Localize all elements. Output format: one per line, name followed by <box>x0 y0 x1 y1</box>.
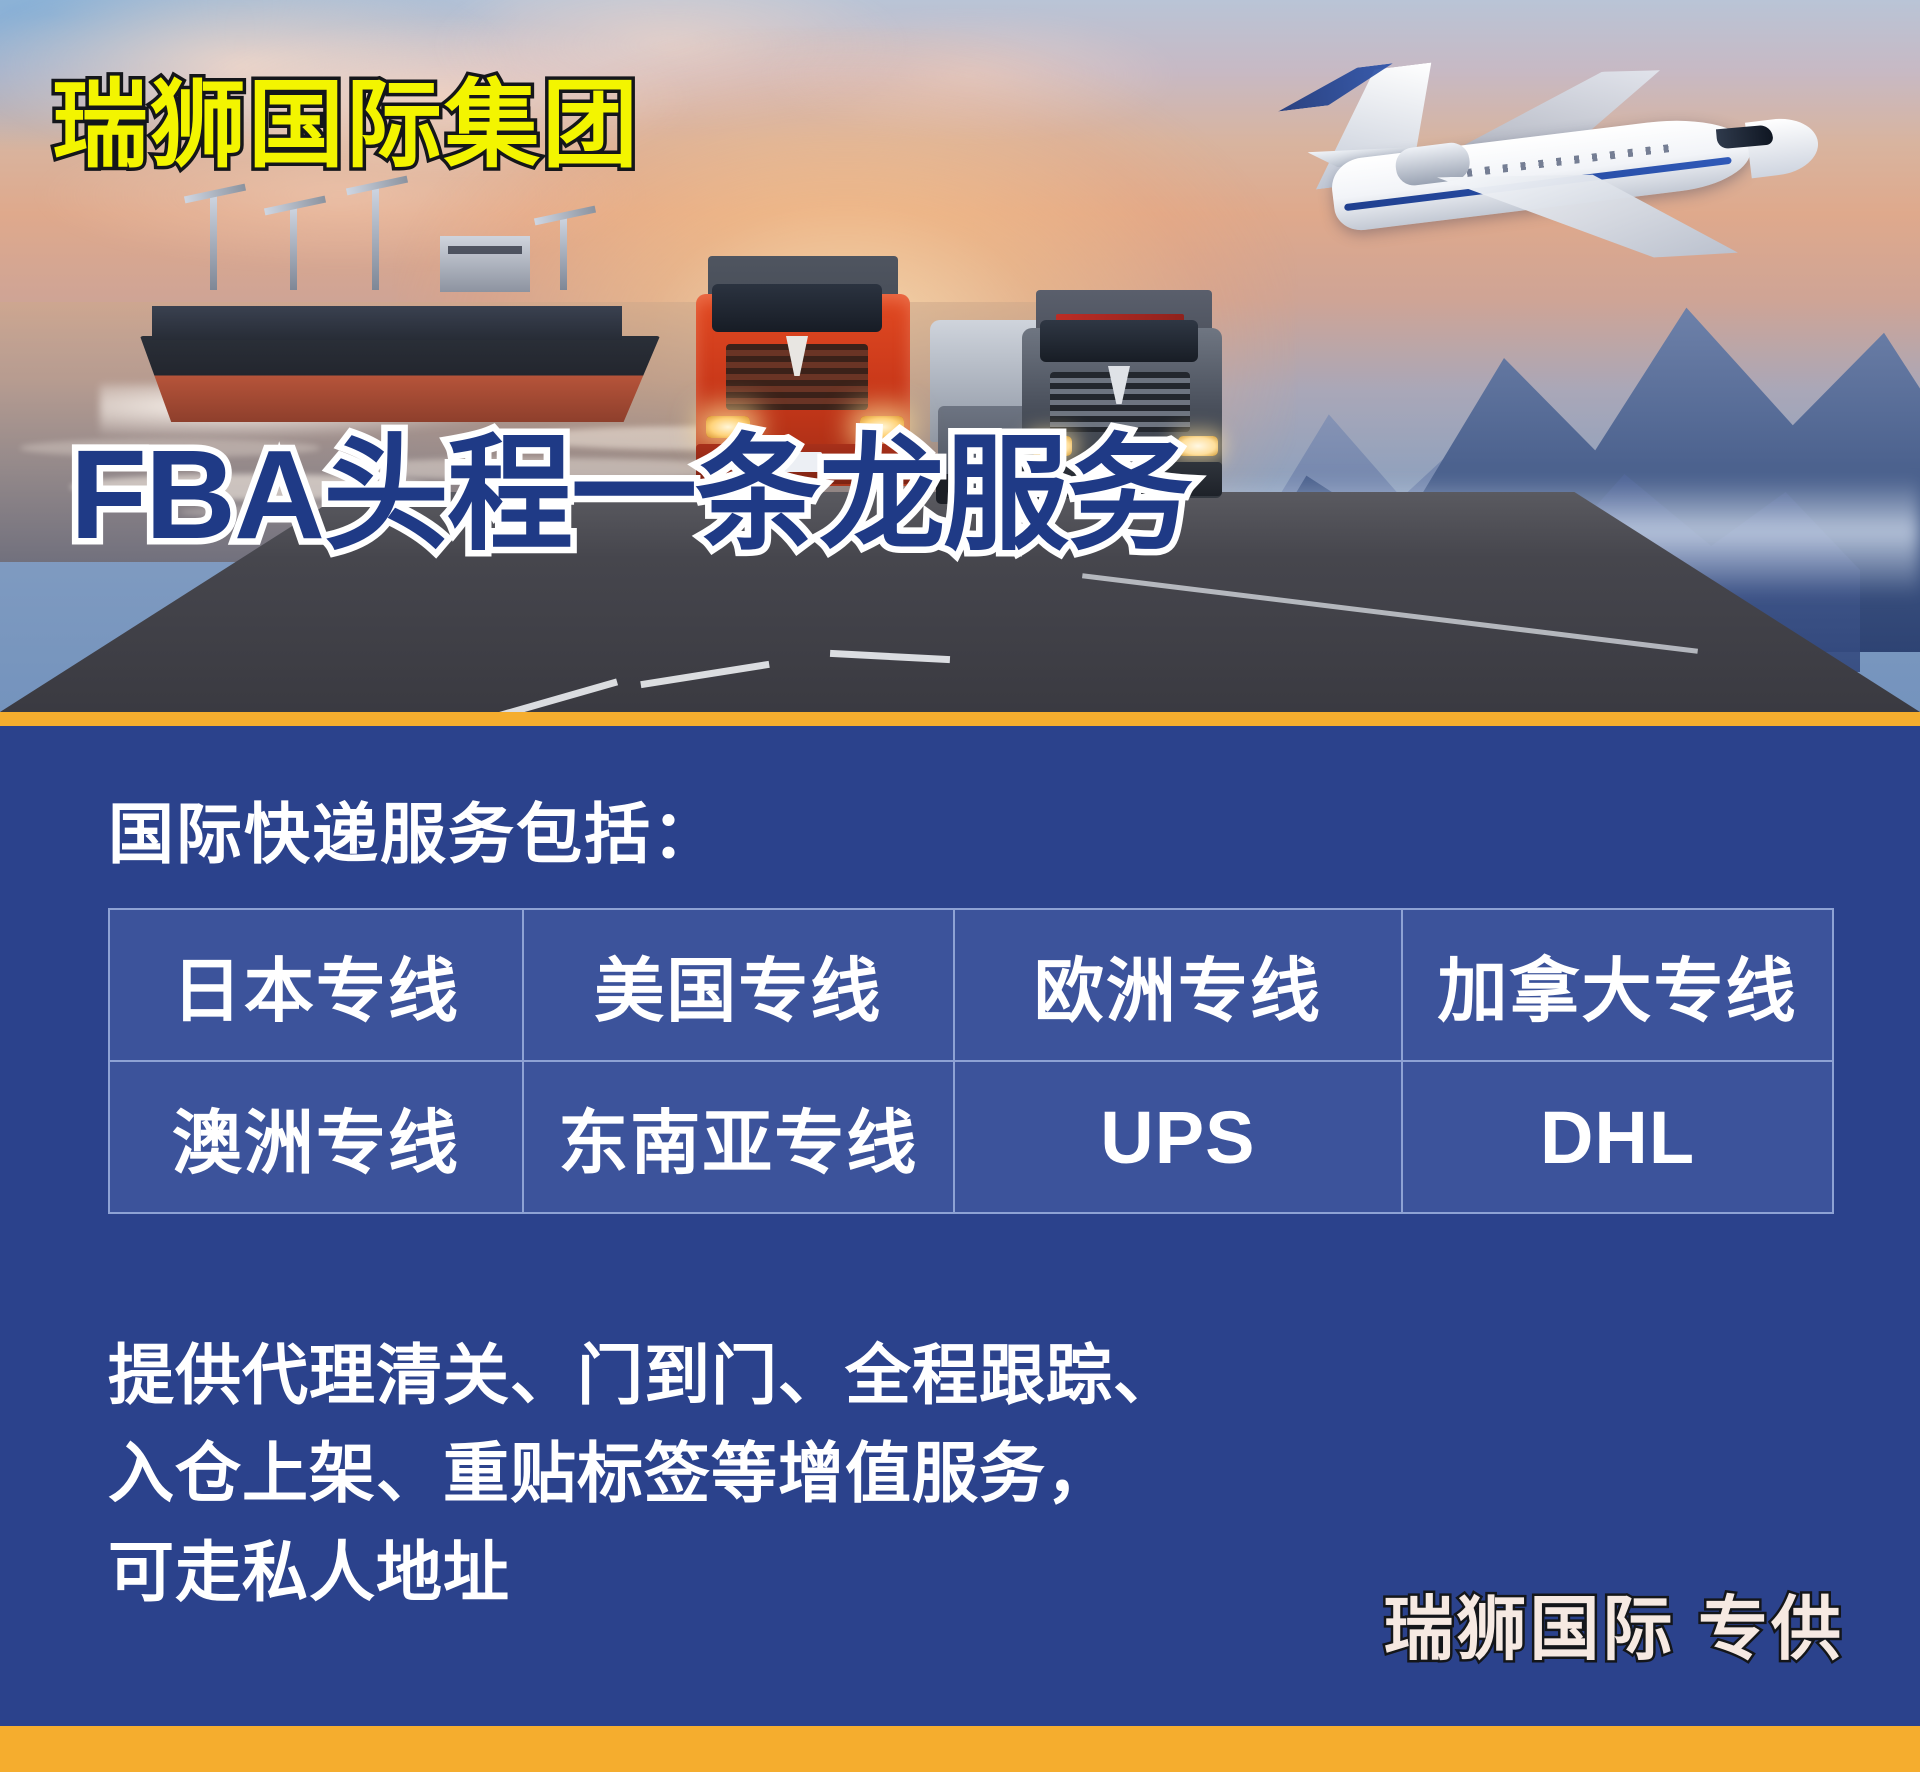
panel-heading: 国际快递服务包括： <box>108 801 720 867</box>
service-cell-canada[interactable]: 加拿大专线 <box>1402 909 1833 1061</box>
description-line-3: 可走私人地址 <box>108 1523 1180 1621</box>
crane-icon <box>560 216 567 290</box>
description-line-1: 提供代理清关、门到门、全程跟踪、 <box>108 1326 1180 1424</box>
service-cell-australia[interactable]: 澳洲专线 <box>109 1061 523 1213</box>
company-logo-wordmark: 瑞狮国际集团 <box>52 78 640 174</box>
table-row: 澳洲专线 东南亚专线 UPS DHL <box>109 1061 1833 1213</box>
service-cell-europe[interactable]: 欧洲专线 <box>954 909 1402 1061</box>
services-table: 日本专线 美国专线 欧洲专线 加拿大专线 澳洲专线 东南亚专线 UPS DHL <box>108 908 1834 1214</box>
table-row: 日本专线 美国专线 欧洲专线 加拿大专线 <box>109 909 1833 1061</box>
service-cell-southeast-asia[interactable]: 东南亚专线 <box>523 1061 954 1213</box>
road-marking <box>640 661 769 688</box>
services-description: 提供代理清关、门到门、全程跟踪、 入仓上架、重贴标签等增值服务， 可走私人地址 <box>108 1326 1180 1621</box>
cargo-ship-icon <box>140 250 700 440</box>
description-line-2: 入仓上架、重贴标签等增值服务， <box>108 1424 1180 1522</box>
ship-bridge <box>440 236 530 292</box>
service-cell-dhl[interactable]: DHL <box>1402 1061 1833 1213</box>
ship-containers <box>164 290 604 336</box>
gold-divider-top <box>0 712 1920 726</box>
footer-company-mark: 瑞狮国际 专供 <box>1384 1573 1844 1674</box>
service-cell-usa[interactable]: 美国专线 <box>523 909 954 1061</box>
ship-hull <box>140 336 660 422</box>
service-cell-ups[interactable]: UPS <box>954 1061 1402 1213</box>
crane-icon <box>290 206 297 290</box>
services-panel: 国际快递服务包括： 日本专线 美国专线 欧洲专线 加拿大专线 澳洲专线 东南亚专… <box>0 726 1920 1726</box>
gold-divider-bottom <box>0 1726 1920 1772</box>
truck-windshield <box>712 284 882 332</box>
hero-banner: 瑞狮国际集团 FBA头程一条龙服务 <box>0 0 1920 712</box>
road-marking <box>472 678 618 712</box>
road-marking <box>830 650 950 663</box>
crane-icon <box>210 194 217 290</box>
truck-windshield <box>1040 320 1198 362</box>
poster-root: 瑞狮国际集团 FBA头程一条龙服务 国际快递服务包括： 日本专线 美国专线 欧洲… <box>0 0 1920 1772</box>
service-cell-japan[interactable]: 日本专线 <box>109 909 523 1061</box>
hero-headline: FBA头程一条龙服务 <box>70 432 1191 558</box>
crane-icon <box>372 186 379 290</box>
